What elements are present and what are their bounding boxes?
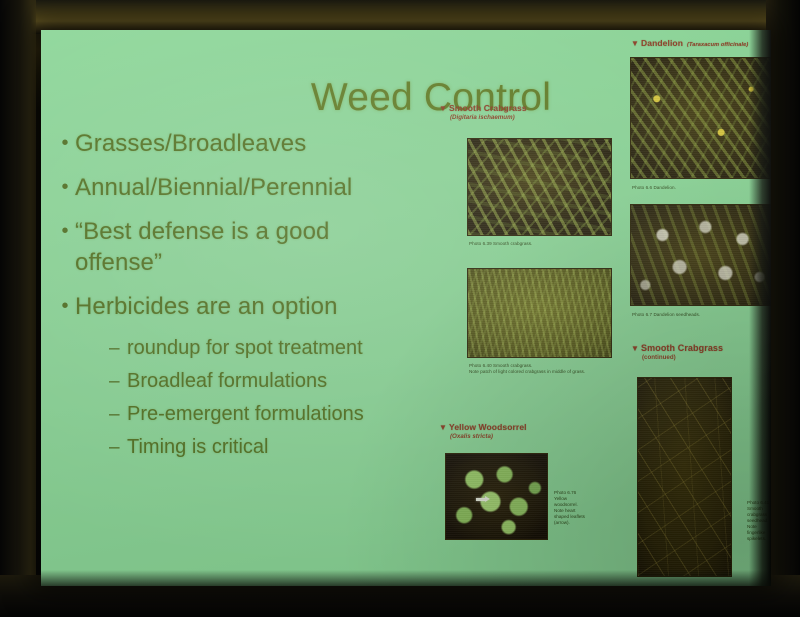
sub-bullet-label: Timing is critical	[127, 434, 269, 461]
photo-crabgrass-seedhead	[637, 377, 732, 577]
figure-scientific-name: (Taraxacum officinale)	[687, 42, 748, 48]
triangle-marker-icon: ▼	[439, 104, 447, 113]
room-right-edge	[766, 0, 800, 617]
bullet-item: • “Best defense is a good offense”	[55, 216, 455, 278]
bullet-marker: •	[55, 291, 75, 321]
room-top-edge	[0, 0, 800, 34]
figure-heading-yellow-woodsorrel: ▼Yellow Woodsorrel	[439, 422, 629, 432]
slide-bottom-shadow	[41, 570, 771, 586]
triangle-marker-icon: ▼	[439, 423, 447, 432]
photo-grain-overlay	[468, 139, 611, 235]
bullet-item: • Annual/Biennial/Perennial	[55, 172, 455, 203]
figure-panel-yellow-woodsorrel: ▼Yellow Woodsorrel (Oxalis stricta)	[439, 422, 629, 440]
slide-right-shadow	[749, 30, 771, 586]
photo-grain-overlay	[446, 454, 547, 539]
figure-heading-label: Yellow Woodsorrel	[449, 422, 527, 432]
bullet-marker: •	[55, 128, 75, 158]
bullet-label: Annual/Biennial/Perennial	[75, 172, 352, 203]
caption-yellow-woodsorrel: Photo 6.76 Yellow woodsorrel. Note heart…	[554, 490, 600, 526]
bullet-label: “Best defense is a good offense”	[75, 216, 405, 278]
triangle-marker-icon: ▼	[631, 39, 639, 48]
figure-panel-smooth-crabgrass: ▼Smooth Crabgrass (Digitaria ischaemum)	[439, 103, 619, 121]
arrow-annotation-icon	[476, 498, 486, 501]
photo-grain-overlay	[468, 269, 611, 357]
sub-bullet-marker: –	[109, 434, 127, 461]
sub-bullet-item: – roundup for spot treatment	[109, 335, 455, 362]
bullet-label: Herbicides are an option	[75, 291, 338, 322]
bullet-list: • Grasses/Broadleaves • Annual/Biennial/…	[55, 128, 455, 467]
bullet-item: • Herbicides are an option	[55, 291, 455, 322]
sub-bullet-item: – Pre-emergent formulations	[109, 401, 455, 428]
bullet-label: Grasses/Broadleaves	[75, 128, 306, 159]
photo-yellow-woodsorrel	[445, 453, 548, 540]
figure-heading-label: Smooth Crabgrass	[641, 343, 723, 353]
figure-heading-label: Dandelion	[641, 38, 683, 48]
photo-smooth-crabgrass-closeup	[467, 138, 612, 236]
sub-bullet-item: – Broadleaf formulations	[109, 368, 455, 395]
photo-smooth-crabgrass-patch	[467, 268, 612, 358]
bullet-marker: •	[55, 216, 75, 246]
figure-scientific-name: (Oxalis stricta)	[450, 433, 629, 440]
figure-heading-label: Smooth Crabgrass	[449, 103, 527, 113]
figure-heading-smooth-crabgrass: ▼Smooth Crabgrass	[439, 103, 619, 113]
photo-grain-overlay	[638, 378, 731, 576]
sub-bullet-list: – roundup for spot treatment – Broadleaf…	[55, 335, 455, 461]
caption-line: (arrow).	[554, 520, 600, 526]
sub-bullet-item: – Timing is critical	[109, 434, 455, 461]
bullet-marker: •	[55, 172, 75, 202]
bullet-item: • Grasses/Broadleaves	[55, 128, 455, 159]
triangle-marker-icon: ▼	[631, 344, 639, 353]
sub-bullet-marker: –	[109, 368, 127, 395]
presentation-slide: Weed Control • Grasses/Broadleaves • Ann…	[41, 30, 771, 586]
sub-bullet-label: Pre-emergent formulations	[127, 401, 364, 428]
sub-bullet-label: Broadleaf formulations	[127, 368, 327, 395]
caption-smooth-crabgrass-2-line2: Note patch of light colored crabgrass in…	[469, 369, 644, 375]
projected-slide-photograph: Weed Control • Grasses/Broadleaves • Ann…	[0, 0, 800, 617]
figure-scientific-name: (Digitaria ischaemum)	[450, 114, 619, 121]
sub-bullet-marker: –	[109, 401, 127, 428]
sub-bullet-label: roundup for spot treatment	[127, 335, 363, 362]
caption-smooth-crabgrass-1: Photo 6.39 Smooth crabgrass.	[469, 241, 629, 247]
sub-bullet-marker: –	[109, 335, 127, 362]
room-left-edge	[0, 0, 36, 617]
